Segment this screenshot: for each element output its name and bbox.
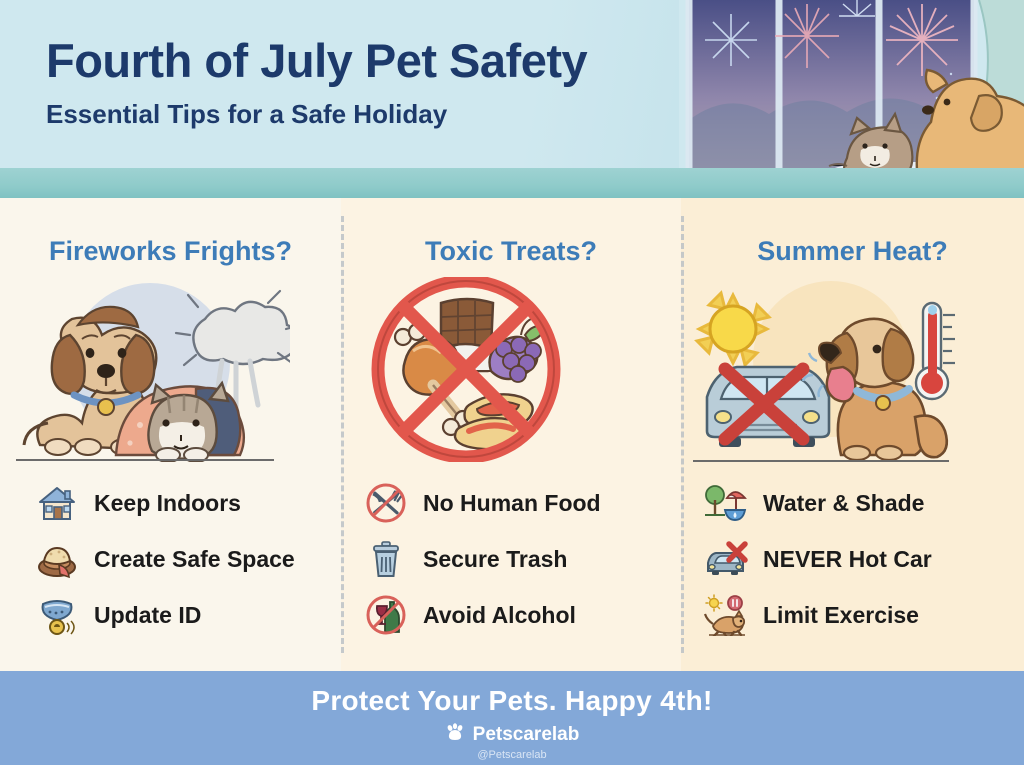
no-hot-car-icon <box>703 537 749 581</box>
tip-item[interactable]: Create Safe Space <box>0 531 341 587</box>
column-heading-fireworks: Fireworks Frights? <box>0 236 341 267</box>
infographic-poster: Fourth of July Pet Safety Essential Tips… <box>0 0 1024 765</box>
header-banner: Fourth of July Pet Safety Essential Tips… <box>0 0 1024 168</box>
footer-tagline: Protect Your Pets. Happy 4th! <box>0 685 1024 717</box>
no-alcohol-icon <box>363 593 409 637</box>
tip-item[interactable]: Update ID <box>0 587 341 643</box>
column-divider-1 <box>341 216 344 653</box>
illustration-summer-heat <box>681 277 1024 472</box>
running-dog-sun-stop-icon <box>703 593 749 637</box>
footer-banner: Protect Your Pets. Happy 4th! Petscarela… <box>0 671 1024 765</box>
brand-lockup: Petscarelab <box>0 722 1024 747</box>
tip-item[interactable]: Limit Exercise <box>681 587 1024 643</box>
teal-divider-band <box>0 168 1024 198</box>
tip-item[interactable]: Secure Trash <box>341 531 681 587</box>
page-subtitle: Essential Tips for a Safe Holiday <box>46 99 587 130</box>
tip-item[interactable]: Water & Shade <box>681 475 1024 531</box>
tip-label: NEVER Hot Car <box>763 546 932 573</box>
pet-bed-icon <box>34 537 80 581</box>
column-fireworks: Fireworks Frights? <box>0 198 341 671</box>
tip-label: Avoid Alcohol <box>423 602 576 629</box>
illustration-fireworks-frights <box>0 277 341 467</box>
paw-print-icon <box>445 722 465 747</box>
tip-label: No Human Food <box>423 490 601 517</box>
illustration-toxic-treats <box>341 277 681 467</box>
page-title: Fourth of July Pet Safety <box>46 36 587 85</box>
tip-label: Keep Indoors <box>94 490 241 517</box>
trash-can-icon <box>363 537 409 581</box>
tip-label: Secure Trash <box>423 546 567 573</box>
column-divider-2 <box>681 216 684 653</box>
column-heading-heat: Summer Heat? <box>681 236 1024 267</box>
tip-label: Update ID <box>94 602 201 629</box>
header-text-block: Fourth of July Pet Safety Essential Tips… <box>46 36 587 130</box>
tip-list-toxic: No Human Food Secure Trash <box>341 475 681 643</box>
tip-label: Limit Exercise <box>763 602 919 629</box>
no-utensils-icon <box>363 481 409 525</box>
brand-handle: @Petscarelab <box>0 749 1024 761</box>
tip-item[interactable]: Keep Indoors <box>0 475 341 531</box>
tip-item[interactable]: NEVER Hot Car <box>681 531 1024 587</box>
column-summer-heat: Summer Heat? <box>681 198 1024 671</box>
column-heading-toxic: Toxic Treats? <box>341 236 681 267</box>
brand-name: Petscarelab <box>473 724 580 746</box>
tip-list-fireworks: Keep Indoors Create Safe Space <box>0 475 341 643</box>
tip-item[interactable]: Avoid Alcohol <box>341 587 681 643</box>
house-icon <box>34 481 80 525</box>
tree-umbrella-water-bowl-icon <box>703 481 749 525</box>
column-toxic-treats: Toxic Treats? <box>341 198 681 671</box>
tip-item[interactable]: No Human Food <box>341 475 681 531</box>
tip-label: Create Safe Space <box>94 546 295 573</box>
tips-columns: Fireworks Frights? <box>0 198 1024 671</box>
tip-list-heat: Water & Shade <box>681 475 1024 643</box>
tip-label: Water & Shade <box>763 490 924 517</box>
collar-id-tag-icon <box>34 593 80 637</box>
